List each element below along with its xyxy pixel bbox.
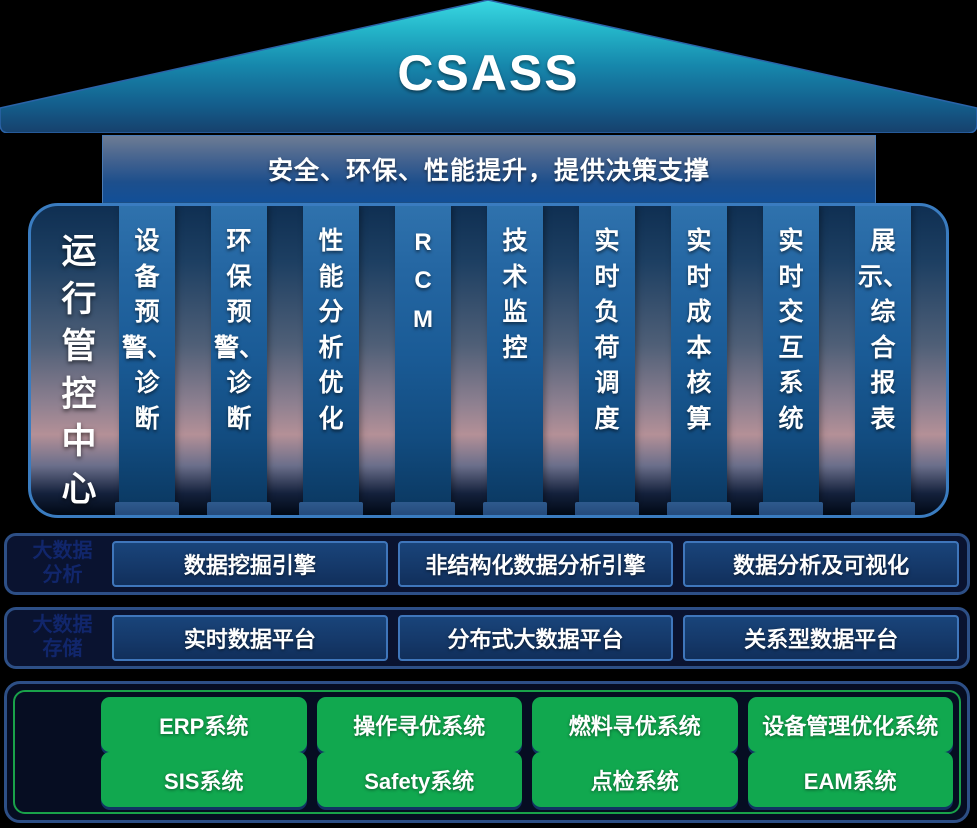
label-line: 分析 bbox=[13, 564, 112, 588]
pillar-char: 保 bbox=[226, 260, 251, 296]
center-label-char: 管 bbox=[61, 323, 96, 371]
pillar-rcm[interactable]: R C M bbox=[395, 206, 451, 502]
data-box-mining-engine[interactable]: 数据挖掘引擎 bbox=[112, 541, 388, 587]
system-sis[interactable]: SIS系统 bbox=[101, 752, 307, 807]
system-equipment-management-optimization[interactable]: 设备管理优化系统 bbox=[748, 697, 954, 752]
pillar-char: 核 bbox=[686, 366, 711, 402]
mission-banner-text: 安全、环保、性能提升，提供决策支撑 bbox=[268, 151, 710, 187]
pillar-char: 示、 bbox=[858, 260, 908, 296]
pillar-equipment-alert[interactable]: 设 备 预 警、 诊 断 bbox=[119, 206, 175, 502]
big-data-analysis-label: 大数据 分析 bbox=[7, 540, 112, 587]
csass-architecture-diagram: CSASS 安全、环保、性能提升，提供决策支撑 运 行 管 控 中 心 设 备 … bbox=[0, 0, 977, 828]
system-safety[interactable]: Safety系统 bbox=[317, 752, 523, 807]
label-line: 大数据 bbox=[13, 614, 112, 638]
source-systems-row-2: SIS系统 Safety系统 点检系统 EAM系统 bbox=[15, 752, 953, 807]
data-box-analysis-visualization[interactable]: 数据分析及可视化 bbox=[683, 541, 959, 587]
pillar-char: 实 bbox=[594, 224, 619, 260]
source-systems-layer: ERP系统 操作寻优系统 燃料寻优系统 设备管理优化系统 SIS系统 Safet… bbox=[4, 681, 970, 823]
big-data-storage-label: 大数据 存储 bbox=[7, 614, 112, 661]
pillar-char: 环 bbox=[226, 224, 251, 260]
roof-container: CSASS bbox=[0, 0, 977, 133]
pillar-environment-alert[interactable]: 环 保 预 警、 诊 断 bbox=[211, 206, 267, 502]
pillar-char: 分 bbox=[318, 295, 343, 331]
pillar-char: 荷 bbox=[594, 331, 619, 367]
pillar-char: 时 bbox=[594, 260, 619, 296]
source-systems-inner: ERP系统 操作寻优系统 燃料寻优系统 设备管理优化系统 SIS系统 Safet… bbox=[13, 690, 961, 814]
pillar-char: 警、 bbox=[122, 331, 172, 367]
label-line: 大数据 bbox=[13, 540, 112, 564]
data-box-unstructured-analysis-engine[interactable]: 非结构化数据分析引擎 bbox=[398, 541, 674, 587]
pillar-char: 设 bbox=[134, 224, 159, 260]
pillar-char: M bbox=[413, 301, 433, 339]
system-fuel-optimization[interactable]: 燃料寻优系统 bbox=[532, 697, 738, 752]
pillar-char: 控 bbox=[502, 331, 527, 367]
center-label-char: 中 bbox=[61, 418, 96, 466]
system-operation-optimization[interactable]: 操作寻优系统 bbox=[317, 697, 523, 752]
pillar-char: 时 bbox=[686, 260, 711, 296]
data-box-relational-platform[interactable]: 关系型数据平台 bbox=[683, 615, 959, 661]
pillar-char: 备 bbox=[134, 260, 159, 296]
pillar-performance-analysis[interactable]: 性 能 分 析 优 化 bbox=[303, 206, 359, 502]
pillar-char: 警、 bbox=[214, 331, 264, 367]
system-eam[interactable]: EAM系统 bbox=[748, 752, 954, 807]
pillar-char: 析 bbox=[318, 331, 343, 367]
pillar-char: 断 bbox=[226, 402, 251, 438]
pillar-char: 技 bbox=[502, 224, 527, 260]
pillar-char: 化 bbox=[318, 402, 343, 438]
pillar-char: 诊 bbox=[134, 366, 159, 402]
pillar-char: 断 bbox=[134, 402, 159, 438]
page-title: CSASS bbox=[0, 44, 977, 102]
pillar-char: 本 bbox=[686, 331, 711, 367]
pillar-char: 优 bbox=[318, 366, 343, 402]
pillar-char: 能 bbox=[318, 260, 343, 296]
pillar-char: 监 bbox=[502, 295, 527, 331]
pillar-layout: 运 行 管 控 中 心 设 备 预 警、 诊 断 环 保 预 警、 诊 bbox=[31, 206, 946, 515]
source-systems-row-1: ERP系统 操作寻优系统 燃料寻优系统 设备管理优化系统 bbox=[15, 697, 953, 752]
center-label-char: 运 bbox=[61, 228, 96, 276]
system-inspection[interactable]: 点检系统 bbox=[532, 752, 738, 807]
pillar-char: 成 bbox=[686, 295, 711, 331]
pillar-realtime-cost-accounting[interactable]: 实 时 成 本 核 算 bbox=[671, 206, 727, 502]
label-line: 存储 bbox=[13, 638, 112, 662]
pillar-char: 交 bbox=[778, 295, 803, 331]
pillar-char: 表 bbox=[870, 402, 895, 438]
pillar-char: 诊 bbox=[226, 366, 251, 402]
system-erp[interactable]: ERP系统 bbox=[101, 697, 307, 752]
pillar-char: 合 bbox=[870, 331, 895, 367]
pillar-char: 统 bbox=[778, 402, 803, 438]
data-box-distributed-platform[interactable]: 分布式大数据平台 bbox=[398, 615, 674, 661]
pillar-char: 度 bbox=[594, 402, 619, 438]
pillar-char: R bbox=[414, 224, 431, 262]
pillar-char: C bbox=[414, 262, 431, 300]
big-data-storage-boxes: 实时数据平台 分布式大数据平台 关系型数据平台 bbox=[112, 615, 967, 661]
pillar-realtime-load-dispatch[interactable]: 实 时 负 荷 调 度 bbox=[579, 206, 635, 502]
pillar-char: 展 bbox=[870, 224, 895, 260]
pillar-char: 时 bbox=[778, 260, 803, 296]
pillar-char: 综 bbox=[870, 295, 895, 331]
pillar-char: 性 bbox=[318, 224, 343, 260]
pillar-realtime-interaction-system[interactable]: 实 时 交 互 系 统 bbox=[763, 206, 819, 502]
pillar-technical-monitoring[interactable]: 技 术 监 控 bbox=[487, 206, 543, 502]
operations-control-center-panel: 运 行 管 控 中 心 设 备 预 警、 诊 断 环 保 预 警、 诊 bbox=[28, 203, 949, 518]
pillar-char: 负 bbox=[594, 295, 619, 331]
pillar-char: 术 bbox=[502, 260, 527, 296]
pillar-char: 系 bbox=[778, 366, 803, 402]
pillar-char: 实 bbox=[778, 224, 803, 260]
pillar-char: 调 bbox=[594, 366, 619, 402]
pillar-char: 互 bbox=[778, 331, 803, 367]
pillar-char: 预 bbox=[134, 295, 159, 331]
big-data-analysis-layer: 大数据 分析 数据挖掘引擎 非结构化数据分析引擎 数据分析及可视化 bbox=[4, 533, 970, 595]
pillar-char: 实 bbox=[686, 224, 711, 260]
big-data-analysis-boxes: 数据挖掘引擎 非结构化数据分析引擎 数据分析及可视化 bbox=[112, 541, 967, 587]
center-label-char: 心 bbox=[61, 466, 96, 514]
pillar-char: 报 bbox=[870, 366, 895, 402]
center-label-char: 行 bbox=[61, 276, 96, 324]
big-data-storage-layer: 大数据 存储 实时数据平台 分布式大数据平台 关系型数据平台 bbox=[4, 607, 970, 669]
pillar-char: 预 bbox=[226, 295, 251, 331]
pillar-char: 算 bbox=[686, 402, 711, 438]
pillar-display-comprehensive-report[interactable]: 展 示、 综 合 报 表 bbox=[855, 206, 911, 502]
center-label-char: 控 bbox=[61, 371, 96, 419]
mission-banner: 安全、环保、性能提升，提供决策支撑 bbox=[102, 135, 876, 205]
data-box-realtime-platform[interactable]: 实时数据平台 bbox=[112, 615, 388, 661]
center-vertical-label: 运 行 管 控 中 心 bbox=[43, 214, 115, 514]
